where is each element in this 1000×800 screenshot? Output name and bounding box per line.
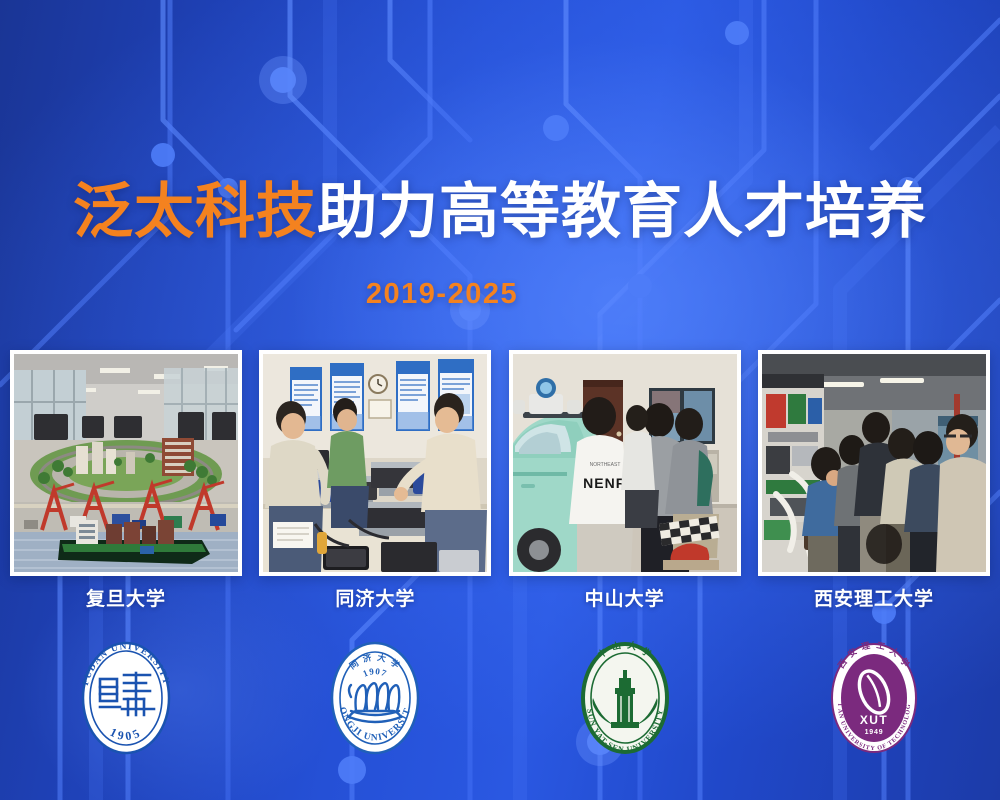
- svg-text:NENR: NENR: [583, 475, 627, 491]
- university-label-row: 复旦大学 同济大学 中山大学 西安理工大学: [0, 584, 1000, 612]
- svg-text:1949: 1949: [865, 729, 884, 736]
- university-label: 复旦大学: [10, 584, 242, 612]
- photo-smart-port-city-model: [14, 354, 238, 572]
- logo-cell: 中 山 大 学 SUN YAT-SEN UNIVERSITY: [509, 630, 741, 765]
- logo-cell: FUDAN UNIVERSITY 1905: [10, 630, 242, 765]
- university-logo-row: FUDAN UNIVERSITY 1905: [0, 630, 1000, 765]
- university-label: 中山大学: [509, 584, 741, 612]
- year-range: 2019-2025: [0, 278, 1000, 311]
- university-label: 同济大学: [259, 584, 491, 612]
- svg-text:XUT: XUT: [860, 713, 888, 727]
- logo-cell: 同 济 大 学 TONGJI UNIVERSITY 1907: [259, 630, 491, 765]
- photo-row: NENR NORTHEAST: [0, 350, 1000, 576]
- photo-students-lab-equipment: [263, 354, 487, 572]
- photo-students-observing-machinery: [762, 354, 986, 572]
- tongji-university-logo: 同 济 大 学 TONGJI UNIVERSITY 1907: [323, 635, 427, 761]
- photo-card[interactable]: [10, 350, 242, 576]
- photo-card[interactable]: NENR NORTHEAST: [509, 350, 741, 576]
- poster-title: 泛太科技助力高等教育人才培养: [0, 176, 1000, 248]
- svg-text:NORTHEAST: NORTHEAST: [589, 462, 620, 468]
- xian-university-of-technology-logo: 西 安 理 工 大 学 XI AN UNIVERSITY OF TECHNOLO…: [822, 634, 926, 762]
- fudan-university-logo: FUDAN UNIVERSITY 1905: [74, 635, 178, 761]
- photo-autonomous-vehicle-demo: NENR NORTHEAST: [513, 354, 737, 572]
- university-label: 西安理工大学: [758, 584, 990, 612]
- title-rest: 助力高等教育人才培养: [317, 178, 927, 245]
- photo-card[interactable]: [259, 350, 491, 576]
- poster-canvas: 泛太科技助力高等教育人才培养 2019-2025: [0, 0, 1000, 800]
- photo-card[interactable]: [758, 350, 990, 576]
- sun-yat-sen-university-logo: 中 山 大 学 SUN YAT-SEN UNIVERSITY: [571, 634, 679, 762]
- logo-cell: 西 安 理 工 大 学 XI AN UNIVERSITY OF TECHNOLO…: [758, 630, 990, 765]
- title-highlight: 泛太科技: [73, 178, 317, 245]
